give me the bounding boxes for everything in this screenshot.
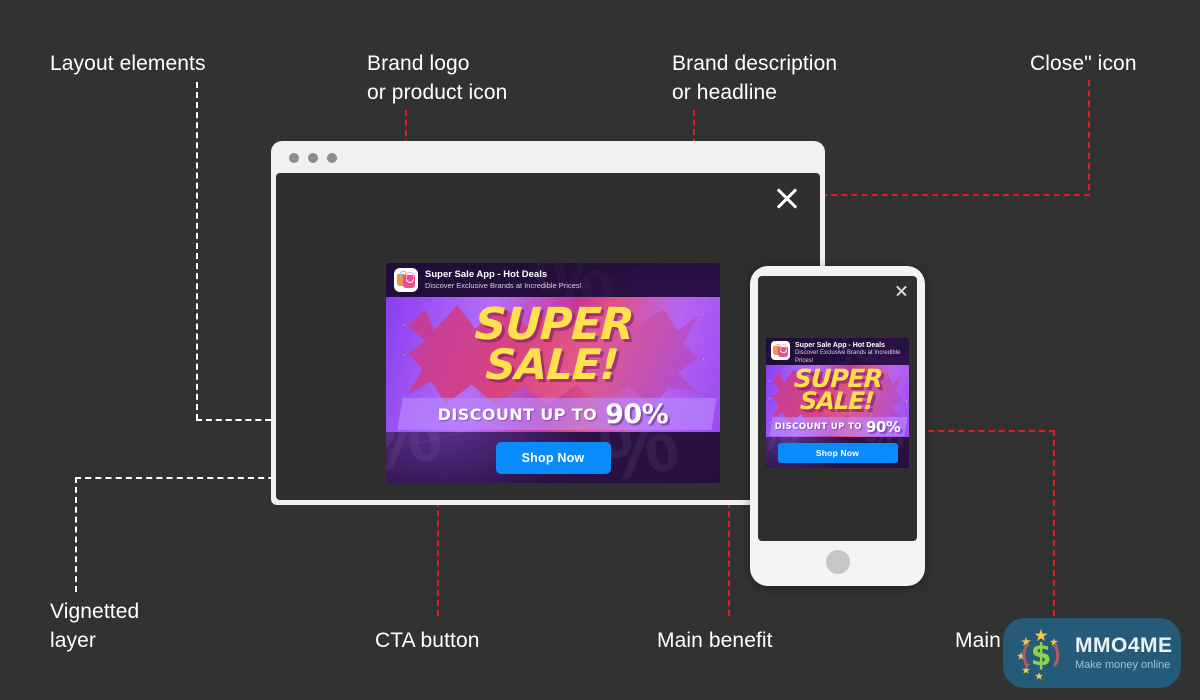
discount-label: DISCOUNT UP TO — [438, 405, 597, 424]
ad-app-name: Super Sale App - Hot Deals — [795, 341, 904, 350]
watermark-tagline: Make money online — [1075, 660, 1173, 671]
ad-hero: SUPER SALE! DISCOUNT UP TO 90% — [766, 365, 909, 437]
bag-pink — [778, 347, 788, 357]
connector-vignetted-vertical — [75, 477, 77, 592]
watermark-badge: $ MMO4ME Make money online — [1003, 618, 1181, 688]
shopping-bag-icon — [394, 268, 418, 292]
ad-app-name: Super Sale App - Hot Deals — [425, 269, 582, 281]
connector-layout-elements-vertical — [196, 82, 198, 420]
bag-pink — [403, 275, 415, 288]
watermark-name: MMO4ME — [1075, 635, 1173, 656]
annotation-cta-button: CTA button — [375, 626, 480, 655]
browser-titlebar — [273, 143, 823, 173]
discount-label: DISCOUNT UP TO — [775, 422, 862, 432]
annotation-layout-elements: Layout elements — [50, 49, 206, 78]
svg-text:$: $ — [1031, 638, 1052, 673]
home-button[interactable] — [826, 550, 850, 574]
phone-mockup: % % % Super Sale App - Hot Deals Discove… — [750, 266, 925, 586]
close-icon[interactable] — [895, 284, 908, 297]
annotation-vignetted-layer: Vignetted layer — [50, 597, 139, 655]
connector-close-icon-horizontal — [811, 194, 1090, 196]
annotated-ad-layout-diagram: Layout elements Brand logo or product ic… — [0, 0, 1200, 700]
ad-creative-mobile[interactable]: % % % Super Sale App - Hot Deals Discove… — [766, 338, 909, 468]
annotation-main-benefit: Main benefit — [657, 626, 773, 655]
ad-headline-line2: SALE! — [386, 345, 720, 385]
ad-tagline: Discover Exclusive Brands at Incredible … — [795, 350, 904, 365]
connector-close-icon-vertical — [1088, 80, 1090, 190]
ad-headline: SUPER SALE! — [766, 368, 909, 412]
annotation-close-icon: Close" icon — [1030, 49, 1137, 78]
browser-window-mockup: % % % Super Sale App - Hot Deals Discove… — [273, 143, 823, 503]
ad-tagline: Discover Exclusive Brands at Incredible … — [425, 281, 582, 291]
ad-footer: Shop Now — [386, 432, 720, 483]
annotation-brand-description: Brand description or headline — [672, 49, 837, 107]
dollar-coin-stars-icon: $ — [1013, 625, 1069, 681]
discount-value: 90% — [605, 399, 668, 430]
traffic-light-minimize-icon[interactable] — [308, 153, 318, 163]
browser-viewport: % % % Super Sale App - Hot Deals Discove… — [276, 173, 820, 500]
discount-row: DISCOUNT UP TO 90% — [766, 417, 909, 436]
shopping-bag-icon — [771, 341, 790, 360]
shop-now-button[interactable]: Shop Now — [496, 442, 611, 474]
ad-header: Super Sale App - Hot Deals Discover Excl… — [766, 338, 909, 365]
ad-hero: SUPER SALE! DISCOUNT UP TO 90% — [386, 297, 720, 432]
traffic-light-maximize-icon[interactable] — [327, 153, 337, 163]
annotation-brand-logo: Brand logo or product icon — [367, 49, 507, 107]
ad-header-text: Super Sale App - Hot Deals Discover Excl… — [795, 341, 904, 365]
ad-header: Super Sale App - Hot Deals Discover Excl… — [386, 263, 720, 297]
watermark-text: MMO4ME Make money online — [1075, 635, 1173, 671]
shop-now-button[interactable]: Shop Now — [778, 443, 898, 463]
connector-main-ad-message-vertical — [1053, 430, 1055, 616]
close-icon[interactable] — [774, 185, 800, 211]
ad-footer: Shop Now — [766, 437, 909, 468]
ad-header-text: Super Sale App - Hot Deals Discover Excl… — [425, 269, 582, 291]
ad-creative-desktop[interactable]: % % % Super Sale App - Hot Deals Discove… — [386, 263, 720, 483]
ad-headline-line2: SALE! — [766, 390, 909, 412]
traffic-light-close-icon[interactable] — [289, 153, 299, 163]
discount-value: 90% — [866, 418, 900, 436]
phone-screen: % % % Super Sale App - Hot Deals Discove… — [758, 276, 917, 541]
ad-headline: SUPER SALE! — [386, 305, 720, 385]
discount-row: DISCOUNT UP TO 90% — [386, 398, 720, 430]
